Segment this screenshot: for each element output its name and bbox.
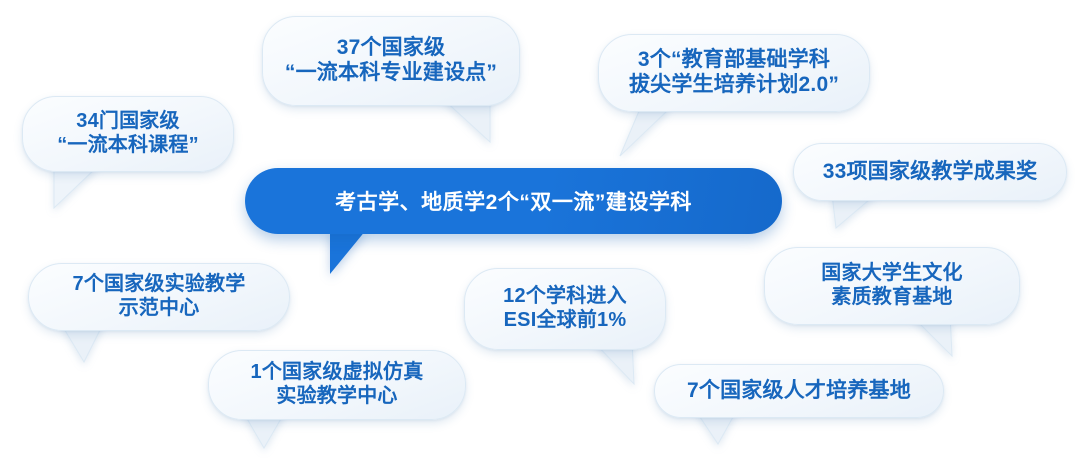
bubble-culture-quality-base[interactable]: 国家大学生文化 素质教育基地 — [764, 247, 1020, 325]
bubble-first-class-majors[interactable]: 37个国家级 “一流本科专业建设点” — [262, 16, 520, 106]
center-pill-tail — [330, 228, 376, 281]
bubble-national-courses[interactable]: 34门国家级 “一流本科课程” — [22, 96, 234, 172]
bubble-esi-top-one-percent[interactable]: 12个学科进入 ESI全球前1% — [464, 268, 666, 350]
bubble-experimental-demo[interactable]: 7个国家级实验教学 示范中心 — [28, 263, 290, 331]
center-pill-label: 考古学、地质学2个“双一流”建设学科 — [335, 186, 692, 216]
bubble-top-talent-program[interactable]: 3个“教育部基础学科 拔尖学生培养计划2.0” — [598, 34, 870, 112]
bubble-teaching-achievement[interactable]: 33项国家级教学成果奖 — [793, 143, 1067, 201]
center-pill-dual-first-class[interactable]: 考古学、地质学2个“双一流”建设学科 — [245, 168, 782, 234]
infographic-canvas: 34门国家级 “一流本科课程” 37个国家级 “一流本科专业建设点” 3个“教育… — [0, 0, 1081, 461]
bubble-virtual-simulation[interactable]: 1个国家级虚拟仿真 实验教学中心 — [208, 350, 466, 420]
bubble-talent-training-base[interactable]: 7个国家级人才培养基地 — [654, 364, 944, 418]
